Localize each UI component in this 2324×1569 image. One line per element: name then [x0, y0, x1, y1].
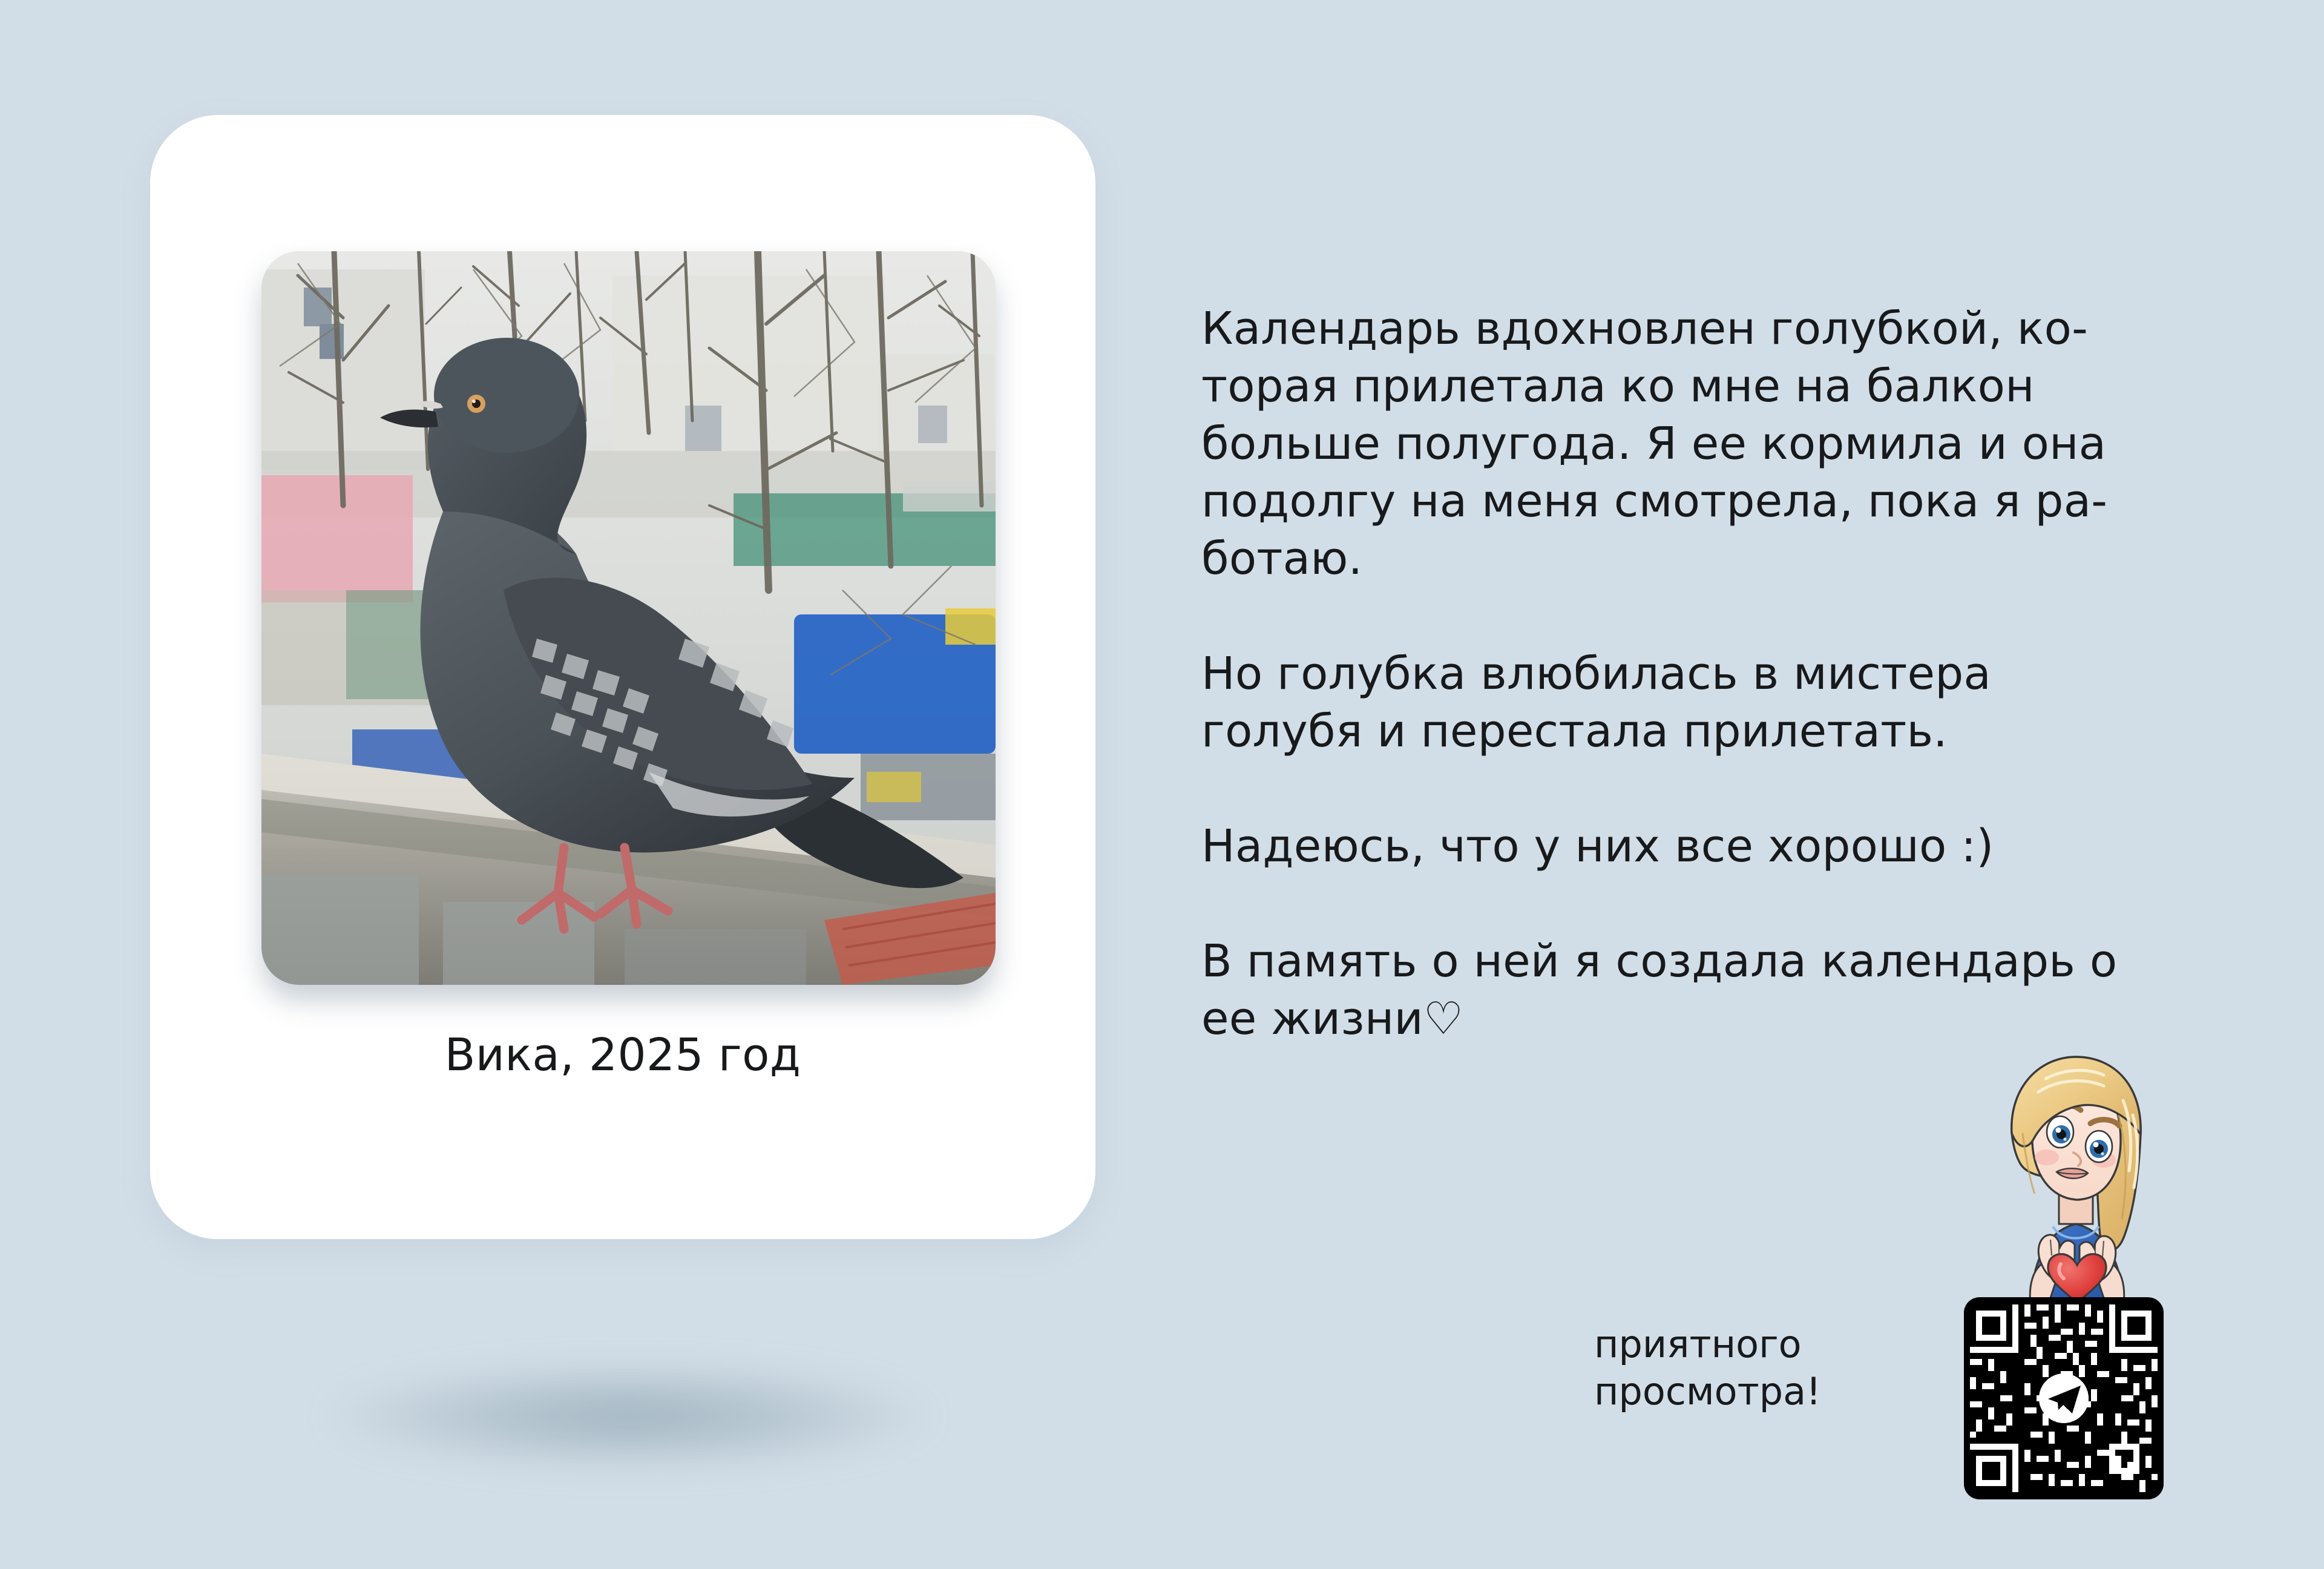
story-text: Календарь вдохновлен голубкой, ко- торая… — [1201, 300, 2121, 1048]
story-paragraph-3: Надеюсь, что у них все хорошо :) — [1201, 818, 2121, 875]
photo-caption: Вика, 2025 год — [150, 1029, 1095, 1081]
story-paragraph-2: Но голубка влюбилась в мистера голубя и … — [1201, 645, 2121, 760]
avatar-svg — [1974, 1042, 2174, 1309]
story-paragraph-1: Календарь вдохновлен голубкой, ко- торая… — [1201, 300, 2121, 588]
pigeon-photo-image — [261, 251, 996, 985]
card-drop-shadow — [200, 1341, 1059, 1492]
enjoy-viewing-text: приятного просмотра! — [1594, 1321, 1933, 1415]
pigeon-photo-svg — [261, 251, 996, 985]
pigeon-photo — [261, 251, 996, 985]
photo-card: Вика, 2025 год — [150, 115, 1095, 1239]
blonde-girl-heart-hands-avatar-icon — [1974, 1042, 2174, 1309]
poster-canvas: Вика, 2025 год Календарь вдохновлен голу… — [0, 0, 2324, 1569]
story-paragraph-4: В память о ней я создала календарь о ее … — [1201, 933, 2121, 1048]
telegram-qr-code[interactable] — [1964, 1297, 2164, 1499]
qr-code-svg — [1964, 1297, 2164, 1499]
